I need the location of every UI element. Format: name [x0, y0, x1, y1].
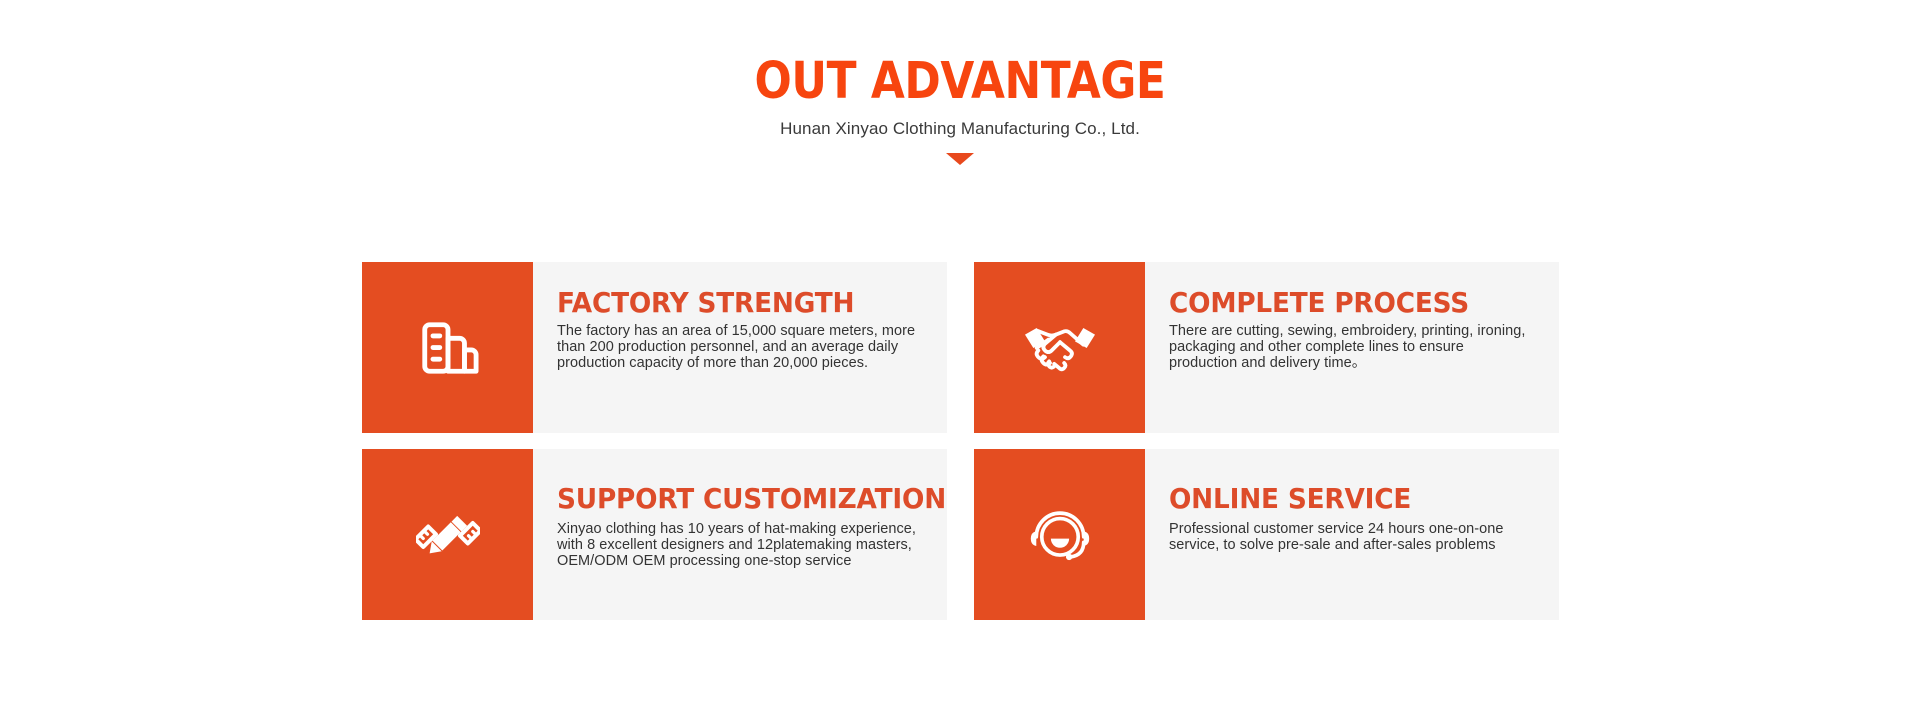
card-icon-tile — [362, 262, 533, 433]
card-icon-tile — [974, 262, 1145, 433]
advantage-section: OUT ADVANTAGE Hunan Xinyao Clothing Manu… — [0, 0, 1920, 702]
card-description: There are cutting, sewing, embroidery, p… — [1169, 324, 1533, 371]
pencil-ruler-icon — [416, 503, 480, 567]
advantage-card-grid: FACTORY STRENGTH The factory has an area… — [362, 262, 1559, 620]
card-description: Xinyao clothing has 10 years of hat-maki… — [557, 522, 921, 569]
card-title: COMPLETE PROCESS — [1169, 288, 1511, 317]
card-body: ONLINE SERVICE Professional customer ser… — [1145, 449, 1559, 620]
card-description: The factory has an area of 15,000 square… — [557, 324, 921, 371]
triangle-down-icon — [946, 153, 974, 165]
card-description: Professional customer service 24 hours o… — [1169, 522, 1533, 553]
card-icon-tile — [974, 449, 1145, 620]
page-title: OUT ADVANTAGE — [134, 56, 1785, 107]
section-header: OUT ADVANTAGE Hunan Xinyao Clothing Manu… — [0, 0, 1920, 165]
card-title: SUPPORT CUSTOMIZATION — [557, 484, 899, 513]
headset-support-icon — [1027, 504, 1093, 566]
advantage-card[interactable]: ONLINE SERVICE Professional customer ser… — [974, 449, 1559, 620]
factory-building-icon — [417, 317, 479, 379]
card-body: SUPPORT CUSTOMIZATION Xinyao clothing ha… — [533, 449, 947, 620]
card-title: FACTORY STRENGTH — [557, 288, 899, 317]
card-title: ONLINE SERVICE — [1169, 484, 1511, 513]
card-body: COMPLETE PROCESS There are cutting, sewi… — [1145, 262, 1559, 433]
company-subtitle: Hunan Xinyao Clothing Manufacturing Co.,… — [0, 119, 1920, 139]
handshake-icon — [1020, 317, 1100, 379]
advantage-card[interactable]: COMPLETE PROCESS There are cutting, sewi… — [974, 262, 1559, 433]
advantage-card[interactable]: SUPPORT CUSTOMIZATION Xinyao clothing ha… — [362, 449, 947, 620]
card-icon-tile — [362, 449, 533, 620]
advantage-card[interactable]: FACTORY STRENGTH The factory has an area… — [362, 262, 947, 433]
card-body: FACTORY STRENGTH The factory has an area… — [533, 262, 947, 433]
